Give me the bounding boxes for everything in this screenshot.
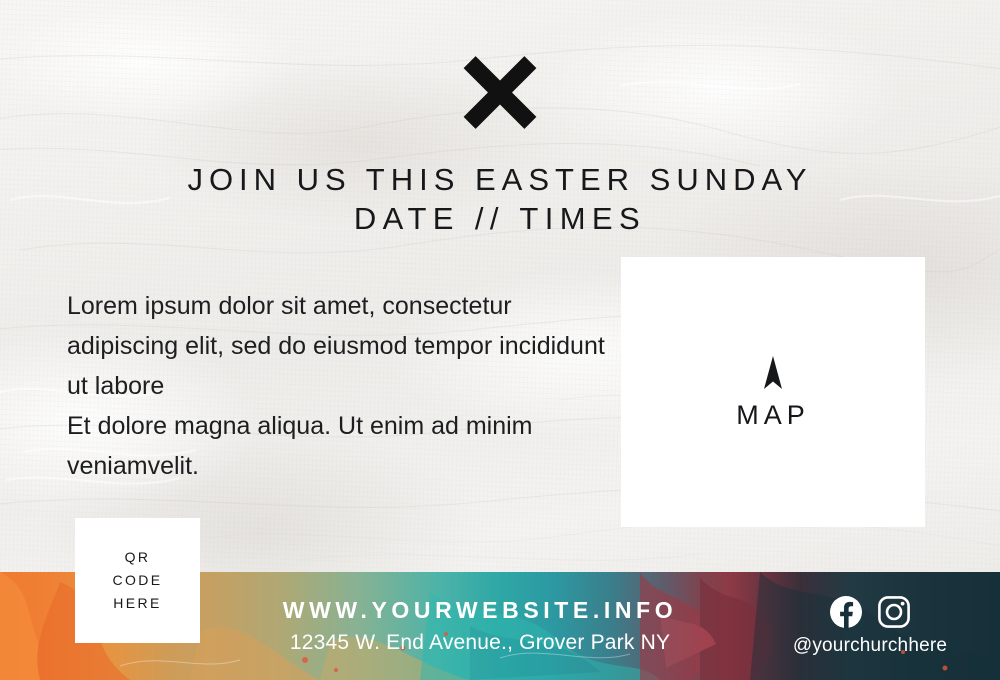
navigation-arrow-icon <box>760 356 786 390</box>
headline-line-1: JOIN US THIS EASTER SUNDAY <box>0 160 1000 199</box>
social-icons <box>829 595 911 629</box>
qr-line-2: CODE <box>112 569 162 592</box>
street-address: 12345 W. End Avenue., Grover Park NY <box>290 627 670 659</box>
page-title: JOIN US THIS EASTER SUNDAY DATE // TIMES <box>0 160 1000 238</box>
headline-line-2: DATE // TIMES <box>0 199 1000 238</box>
social-block: @yourchurchhere <box>770 572 970 680</box>
body-paragraph-1: Lorem ipsum dolor sit amet, consectetur … <box>67 286 612 406</box>
social-handle[interactable]: @yourchurchhere <box>793 635 947 657</box>
easter-invite-flyer: JOIN US THIS EASTER SUNDAY DATE // TIMES… <box>0 0 1000 680</box>
cross-x-icon <box>463 55 537 129</box>
body-copy: Lorem ipsum dolor sit amet, consectetur … <box>67 286 612 486</box>
map-label: MAP <box>736 402 810 429</box>
qr-code-placeholder-card[interactable]: QR CODE HERE <box>75 518 200 643</box>
footer-contact-block: WWW.YOURWEBSITE.INFO 12345 W. End Avenue… <box>230 572 730 680</box>
body-paragraph-2: Et dolore magna aliqua. Ut enim ad minim… <box>67 406 612 486</box>
qr-line-1: QR <box>125 546 151 569</box>
website-url[interactable]: WWW.YOURWEBSITE.INFO <box>283 593 677 627</box>
facebook-icon[interactable] <box>829 595 863 629</box>
map-placeholder-card[interactable]: MAP <box>621 257 925 527</box>
instagram-icon[interactable] <box>877 595 911 629</box>
qr-line-3: HERE <box>113 592 162 615</box>
